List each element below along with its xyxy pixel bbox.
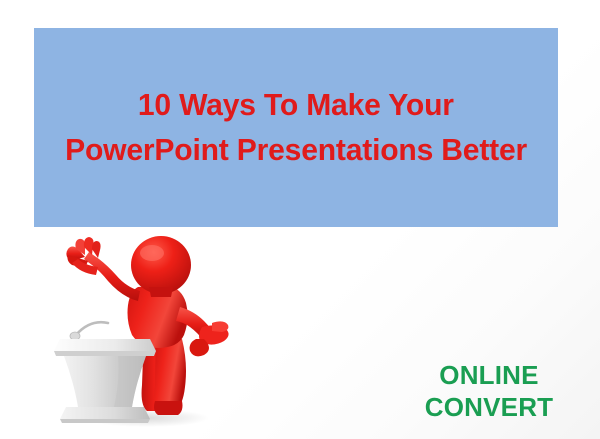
podium-top-shelf	[54, 339, 156, 351]
wordmark-line-online: ONLINE	[414, 360, 564, 392]
figure-left-hand	[66, 237, 100, 275]
figure-neck	[149, 287, 173, 297]
slide-canvas: 10 Ways To Make Your PowerPoint Presenta…	[0, 0, 600, 439]
podium-base-edge	[60, 419, 150, 423]
title-line-2: PowerPoint Presentations Better	[65, 128, 527, 173]
online-convert-wordmark: ONLINE CONVERT	[414, 360, 564, 423]
figure-front-foot	[154, 401, 183, 415]
figure-head-highlight	[140, 245, 164, 261]
podium-body-shade	[114, 356, 146, 407]
podium-base	[60, 407, 150, 419]
title-line-1: 10 Ways To Make Your	[138, 83, 454, 128]
speaker-at-podium-illustration	[52, 235, 232, 430]
microphone-icon	[70, 322, 108, 340]
podium-top-edge	[54, 351, 156, 356]
figure-head	[131, 236, 191, 294]
wordmark-line-convert: CONVERT	[414, 392, 564, 424]
title-banner: 10 Ways To Make Your PowerPoint Presenta…	[34, 28, 558, 227]
